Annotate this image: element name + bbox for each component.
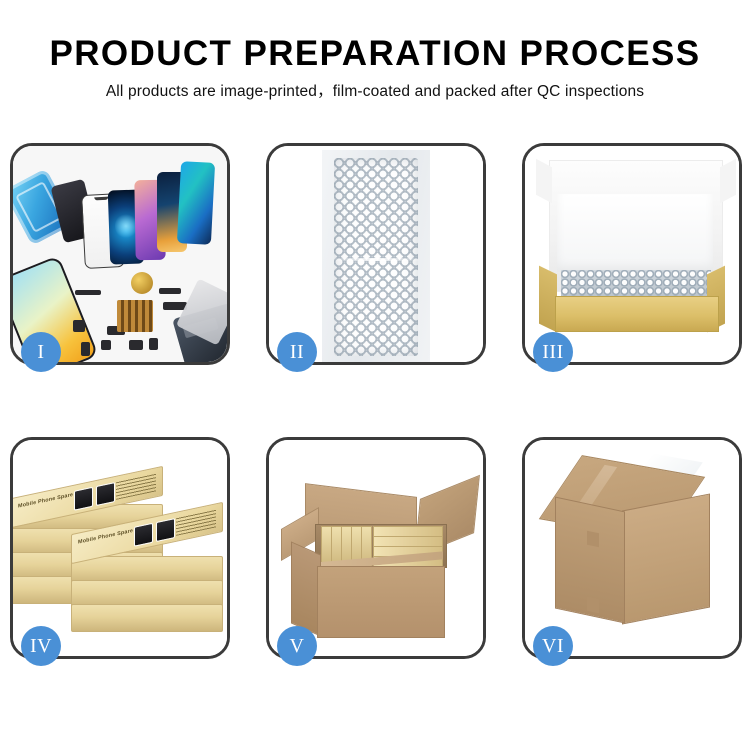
process-step-panel-5[interactable]: V	[266, 437, 486, 659]
process-step-panel-6[interactable]: VI	[522, 437, 742, 659]
carton-right-face	[622, 493, 710, 624]
step-badge-4: IV	[21, 626, 61, 666]
phone-parts-collage-scene	[13, 146, 227, 362]
sim-tray-part	[81, 342, 90, 356]
vibrator-part	[149, 338, 158, 350]
step-3-image	[525, 146, 739, 362]
coil-part	[131, 272, 153, 294]
step-6-image	[525, 440, 739, 656]
chip-array-part	[117, 300, 153, 332]
pouch-seam	[334, 258, 418, 261]
carton-front-face	[317, 566, 445, 638]
sealed-carton-scene	[525, 440, 739, 656]
process-step-panel-1[interactable]: I	[10, 143, 230, 365]
step-1-image	[13, 146, 227, 362]
page-header: PRODUCT PREPARATION PROCESS All products…	[0, 0, 750, 100]
carton-edge-tab	[587, 531, 599, 548]
step-5-image	[269, 440, 483, 656]
speaker-part	[101, 340, 111, 350]
button-part	[73, 320, 85, 332]
box-artwork-screen	[74, 487, 93, 511]
box-spec-text-lines	[116, 473, 156, 500]
process-step-panel-3[interactable]: III	[522, 143, 742, 365]
camera-module-part	[129, 340, 143, 350]
step-badge-1: I	[21, 332, 61, 372]
step-badge-5: V	[277, 626, 317, 666]
volume-flex-part	[159, 288, 181, 294]
step-badge-6: VI	[533, 626, 573, 666]
bubble-texture	[334, 158, 418, 356]
foam-insert	[557, 194, 713, 272]
open-carton-scene	[269, 440, 483, 656]
step-4-image: Mobile Phone Spare Parts Mobile Phone Sp…	[13, 440, 227, 656]
box-artwork-screen	[134, 523, 153, 547]
process-step-panel-4[interactable]: Mobile Phone Spare Parts Mobile Phone Sp…	[10, 437, 230, 659]
bubble-wrap-scene	[269, 146, 483, 362]
bubble-wrapped-product	[561, 270, 711, 298]
flex-cable-part	[75, 290, 101, 295]
process-step-panel-2[interactable]: II	[266, 143, 486, 365]
box-artwork-screen	[156, 518, 175, 542]
phone-screen-teal-graphic	[177, 161, 215, 245]
white-mailer-box-scene	[525, 146, 739, 362]
retail-box-stack: Mobile Phone Spare Parts Mobile Phone Sp…	[13, 456, 227, 652]
step-badge-3: III	[533, 332, 573, 372]
box-spec-text-lines	[176, 509, 216, 536]
mailer-box-front	[555, 296, 719, 332]
process-step-grid: I II III	[10, 143, 742, 659]
carton-edge-tab	[587, 597, 599, 614]
stacked-boxes-scene: Mobile Phone Spare Parts Mobile Phone Sp…	[13, 440, 227, 656]
step-badge-2: II	[277, 332, 317, 372]
box-artwork-screen	[96, 482, 115, 506]
bubble-wrap-pouch	[322, 150, 430, 362]
step-2-image	[269, 146, 483, 362]
page-subtitle: All products are image-printed，film-coat…	[0, 84, 750, 100]
page-title: PRODUCT PREPARATION PROCESS	[0, 36, 750, 71]
retail-box-edge	[71, 604, 223, 632]
